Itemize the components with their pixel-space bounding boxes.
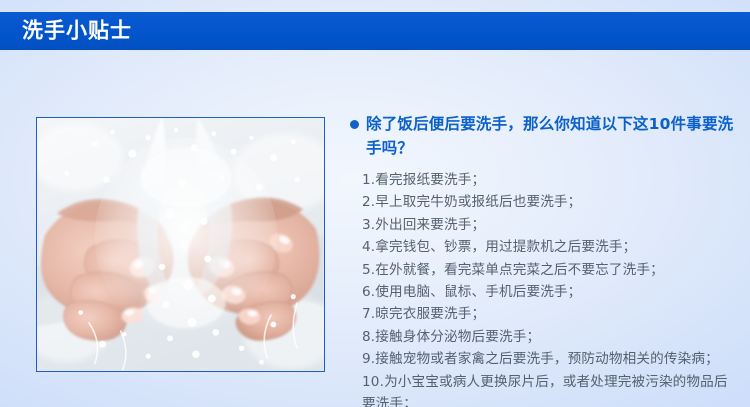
list-item: 9.接触宠物或者家禽之后要洗手，预防动物相关的传染病； (362, 348, 738, 370)
list-item: 6.使用电脑、鼠标、手机后要洗手； (362, 281, 738, 303)
handwashing-photo-image (37, 118, 324, 371)
header-bar: 洗手小贴士 (0, 12, 750, 50)
page-root: 洗手小贴士 (0, 0, 750, 407)
list-item: 4.拿完钱包、钞票，用过提款机之后要洗手； (362, 236, 738, 258)
list-item: 10.为小宝宝或病人更换尿片后，或者处理完被污染的物品后要洗手； (362, 371, 738, 407)
list-item: 1.看完报纸要洗手； (362, 169, 738, 191)
handwashing-photo (36, 117, 325, 372)
list-item: 2.早上取完牛奶或报纸后也要洗手； (362, 191, 738, 213)
lead-question: 除了饭后便后要洗手，那么你知道以下这10件事要洗手吗？ (366, 112, 738, 160)
list-item: 8.接触身体分泌物后要洗手； (362, 326, 738, 348)
list-item: 5.在外就餐，看完菜单点完菜之后不要忘了洗手； (362, 259, 738, 281)
tips-list: 1.看完报纸要洗手； 2.早上取完牛奶或报纸后也要洗手； 3.外出回来要洗手； … (348, 169, 738, 407)
tips-content: 除了饭后便后要洗手，那么你知道以下这10件事要洗手吗？ 1.看完报纸要洗手； 2… (348, 112, 738, 407)
list-item: 7.晾完衣服要洗手； (362, 303, 738, 325)
lead-question-row: 除了饭后便后要洗手，那么你知道以下这10件事要洗手吗？ (348, 112, 738, 160)
list-item: 3.外出回来要洗手； (362, 214, 738, 236)
bullet-icon (350, 120, 359, 129)
page-title: 洗手小贴士 (22, 21, 132, 42)
